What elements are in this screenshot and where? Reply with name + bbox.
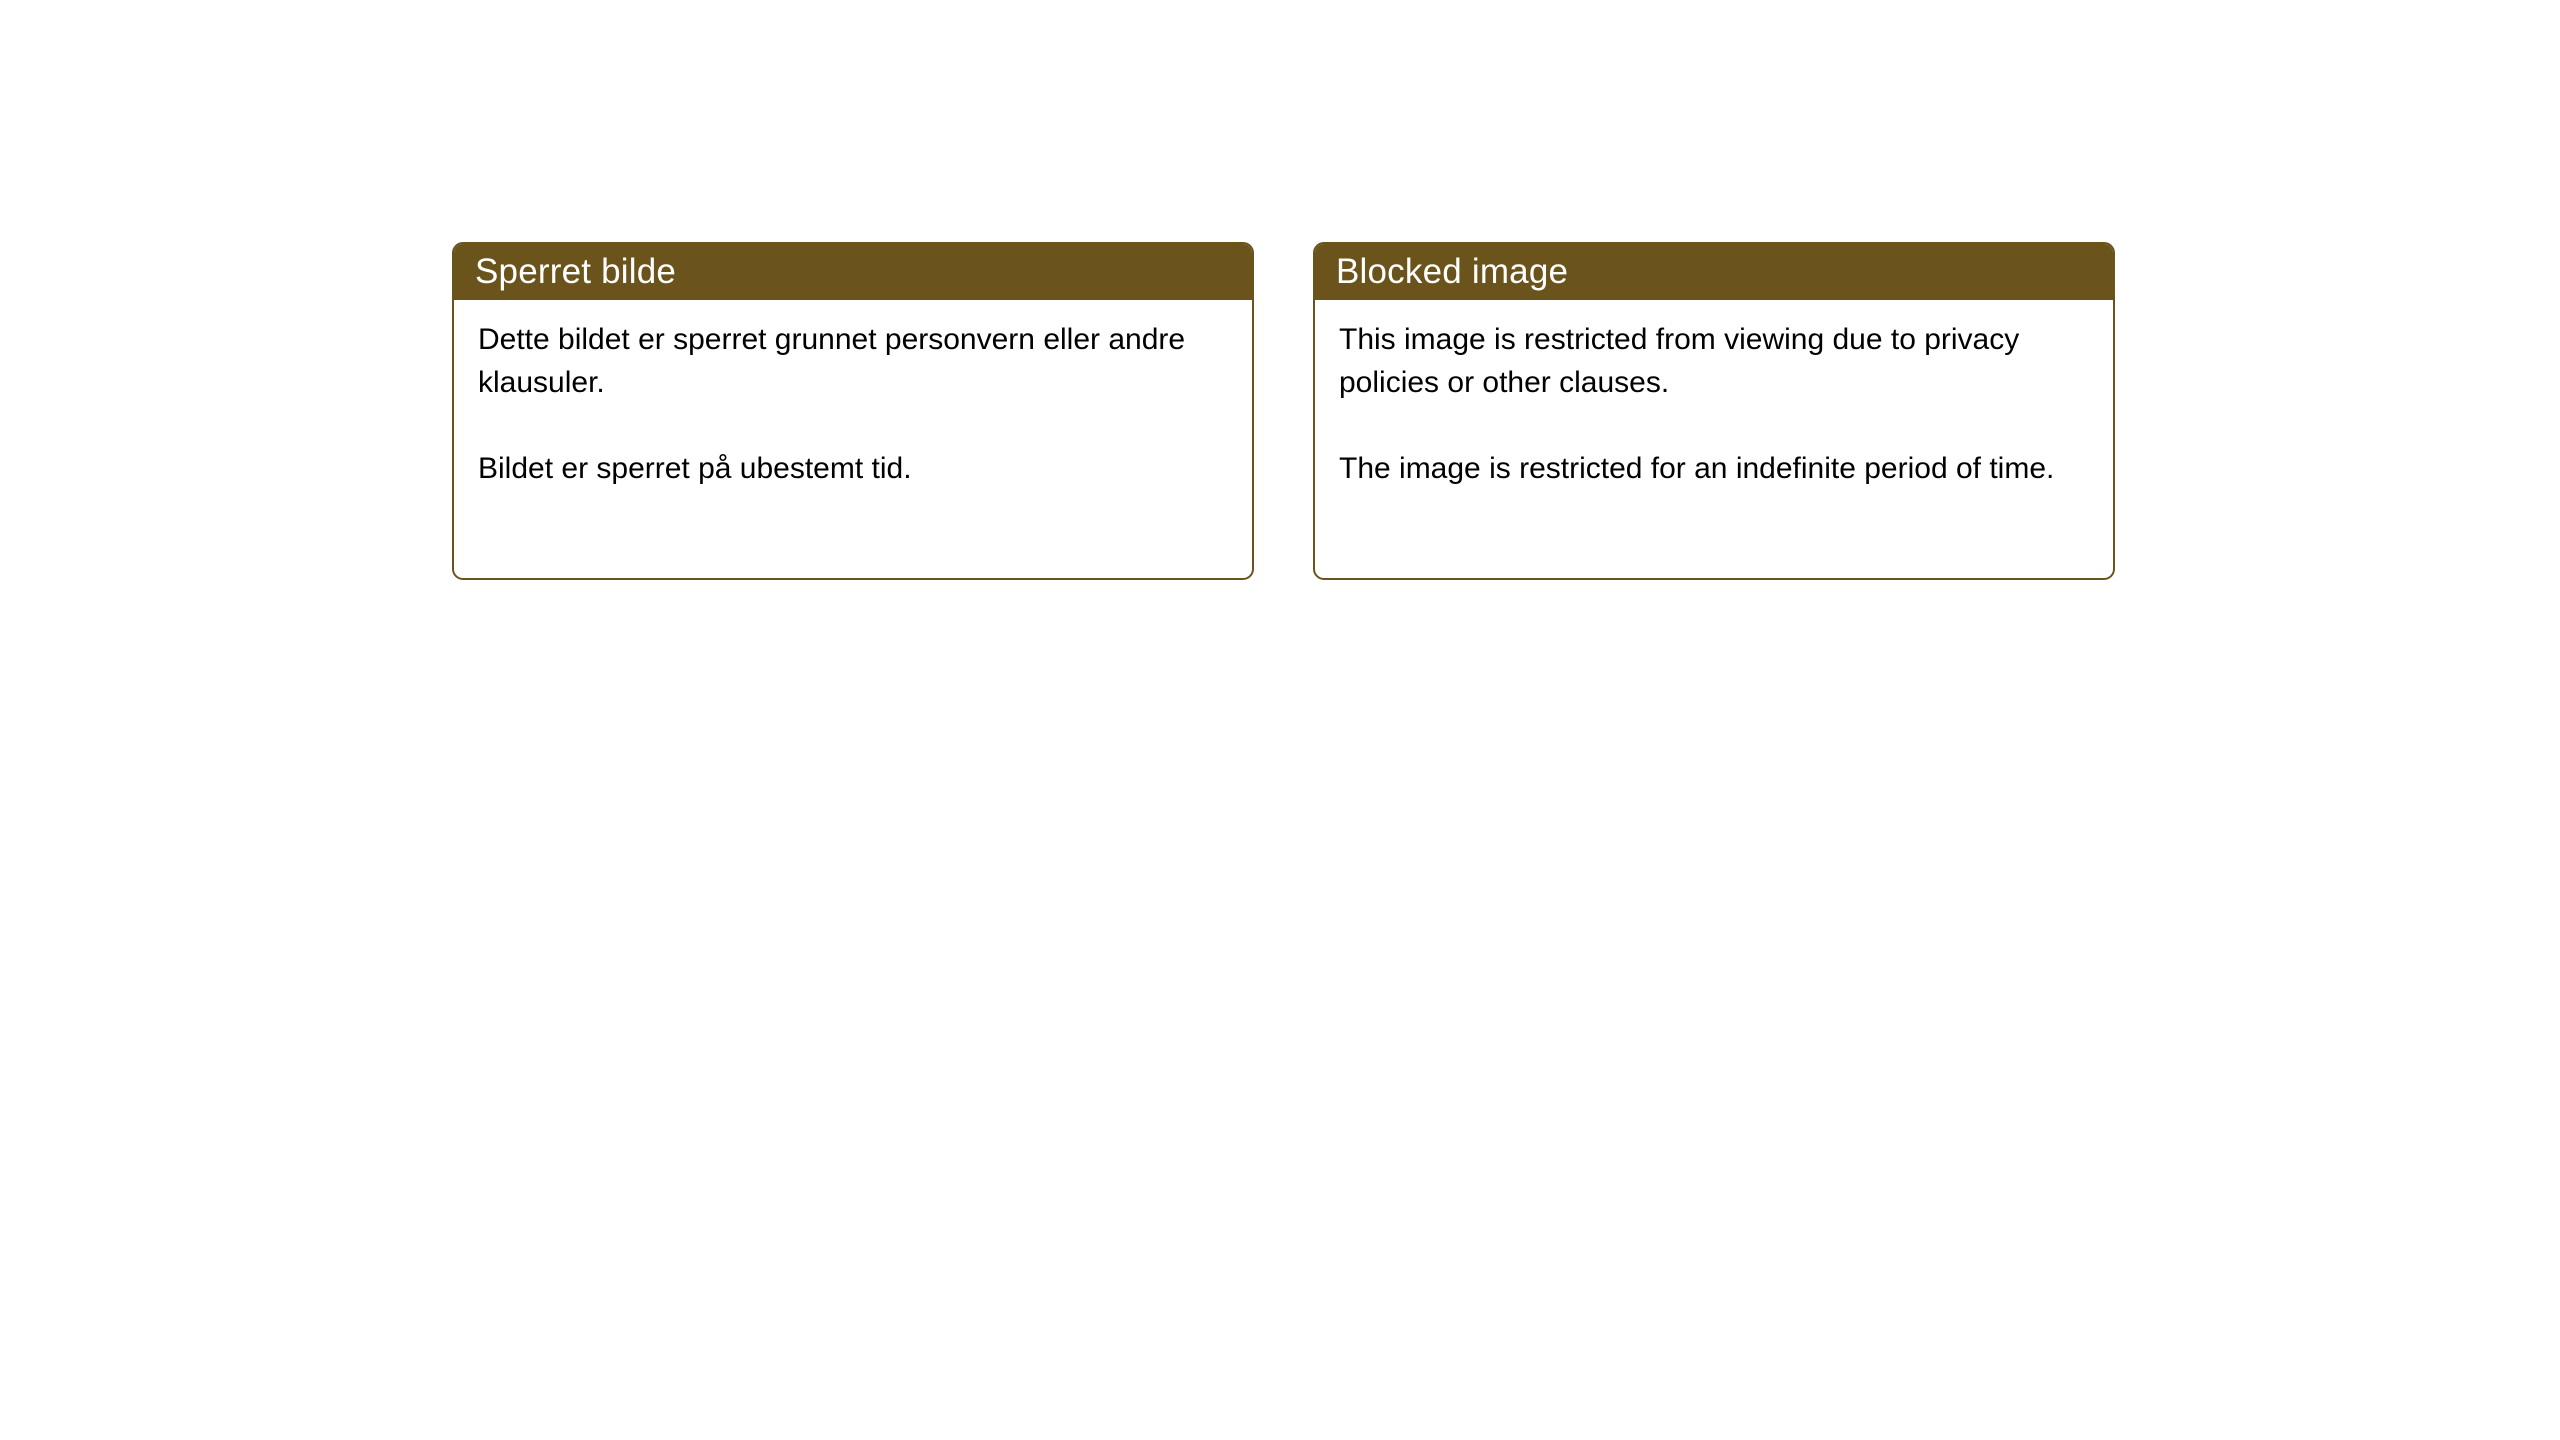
blocked-image-panel-english: Blocked image This image is restricted f… [1313, 242, 2115, 580]
panel-header-english: Blocked image [1313, 242, 2115, 300]
panel-body-english: This image is restricted from viewing du… [1315, 300, 2113, 578]
panel-body-norwegian: Dette bildet er sperret grunnet personve… [454, 300, 1252, 578]
panel-paragraph-duration-norwegian: Bildet er sperret på ubestemt tid. [478, 447, 1226, 490]
panel-title-norwegian: Sperret bilde [475, 254, 676, 289]
panel-paragraph-reason-english: This image is restricted from viewing du… [1339, 318, 2087, 404]
panel-paragraph-reason-norwegian: Dette bildet er sperret grunnet personve… [478, 318, 1226, 404]
blocked-image-notice-group: Sperret bilde Dette bildet er sperret gr… [452, 242, 2115, 580]
panel-title-english: Blocked image [1336, 254, 1568, 289]
blocked-image-panel-norwegian: Sperret bilde Dette bildet er sperret gr… [452, 242, 1254, 580]
panel-paragraph-duration-english: The image is restricted for an indefinit… [1339, 447, 2087, 490]
panel-header-norwegian: Sperret bilde [452, 242, 1254, 300]
